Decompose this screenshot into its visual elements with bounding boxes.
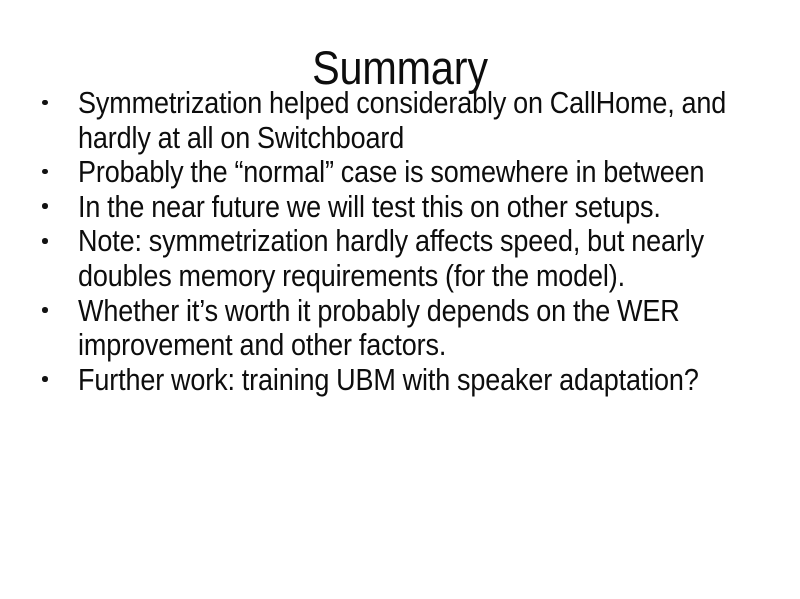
bullet-point-icon: [42, 86, 58, 121]
bullet-point-icon: [42, 224, 58, 259]
list-item: Note: symmetrization hardly affects spee…: [36, 224, 748, 293]
list-item: Whether it’s worth it probably depends o…: [36, 294, 748, 363]
bullet-point-icon: [42, 155, 58, 190]
presentation-slide: Summary Symmetrization helped considerab…: [0, 0, 800, 599]
list-item-text: In the near future we will test this on …: [78, 190, 748, 225]
list-item: Probably the “normal” case is somewhere …: [36, 155, 748, 190]
bullet-point-icon: [42, 190, 58, 225]
list-item-text: Probably the “normal” case is somewhere …: [78, 155, 748, 190]
list-item: Symmetrization helped considerably on Ca…: [36, 86, 748, 155]
list-item-text: Further work: training UBM with speaker …: [78, 363, 748, 398]
bullet-list: Symmetrization helped considerably on Ca…: [36, 86, 748, 397]
list-item: In the near future we will test this on …: [36, 190, 748, 225]
bullet-point-icon: [42, 294, 58, 329]
list-item-text: Whether it’s worth it probably depends o…: [78, 294, 748, 363]
list-item: Further work: training UBM with speaker …: [36, 363, 748, 398]
list-item-text: Note: symmetrization hardly affects spee…: [78, 224, 748, 293]
list-item-text: Symmetrization helped considerably on Ca…: [78, 86, 748, 155]
bullet-point-icon: [42, 363, 58, 398]
